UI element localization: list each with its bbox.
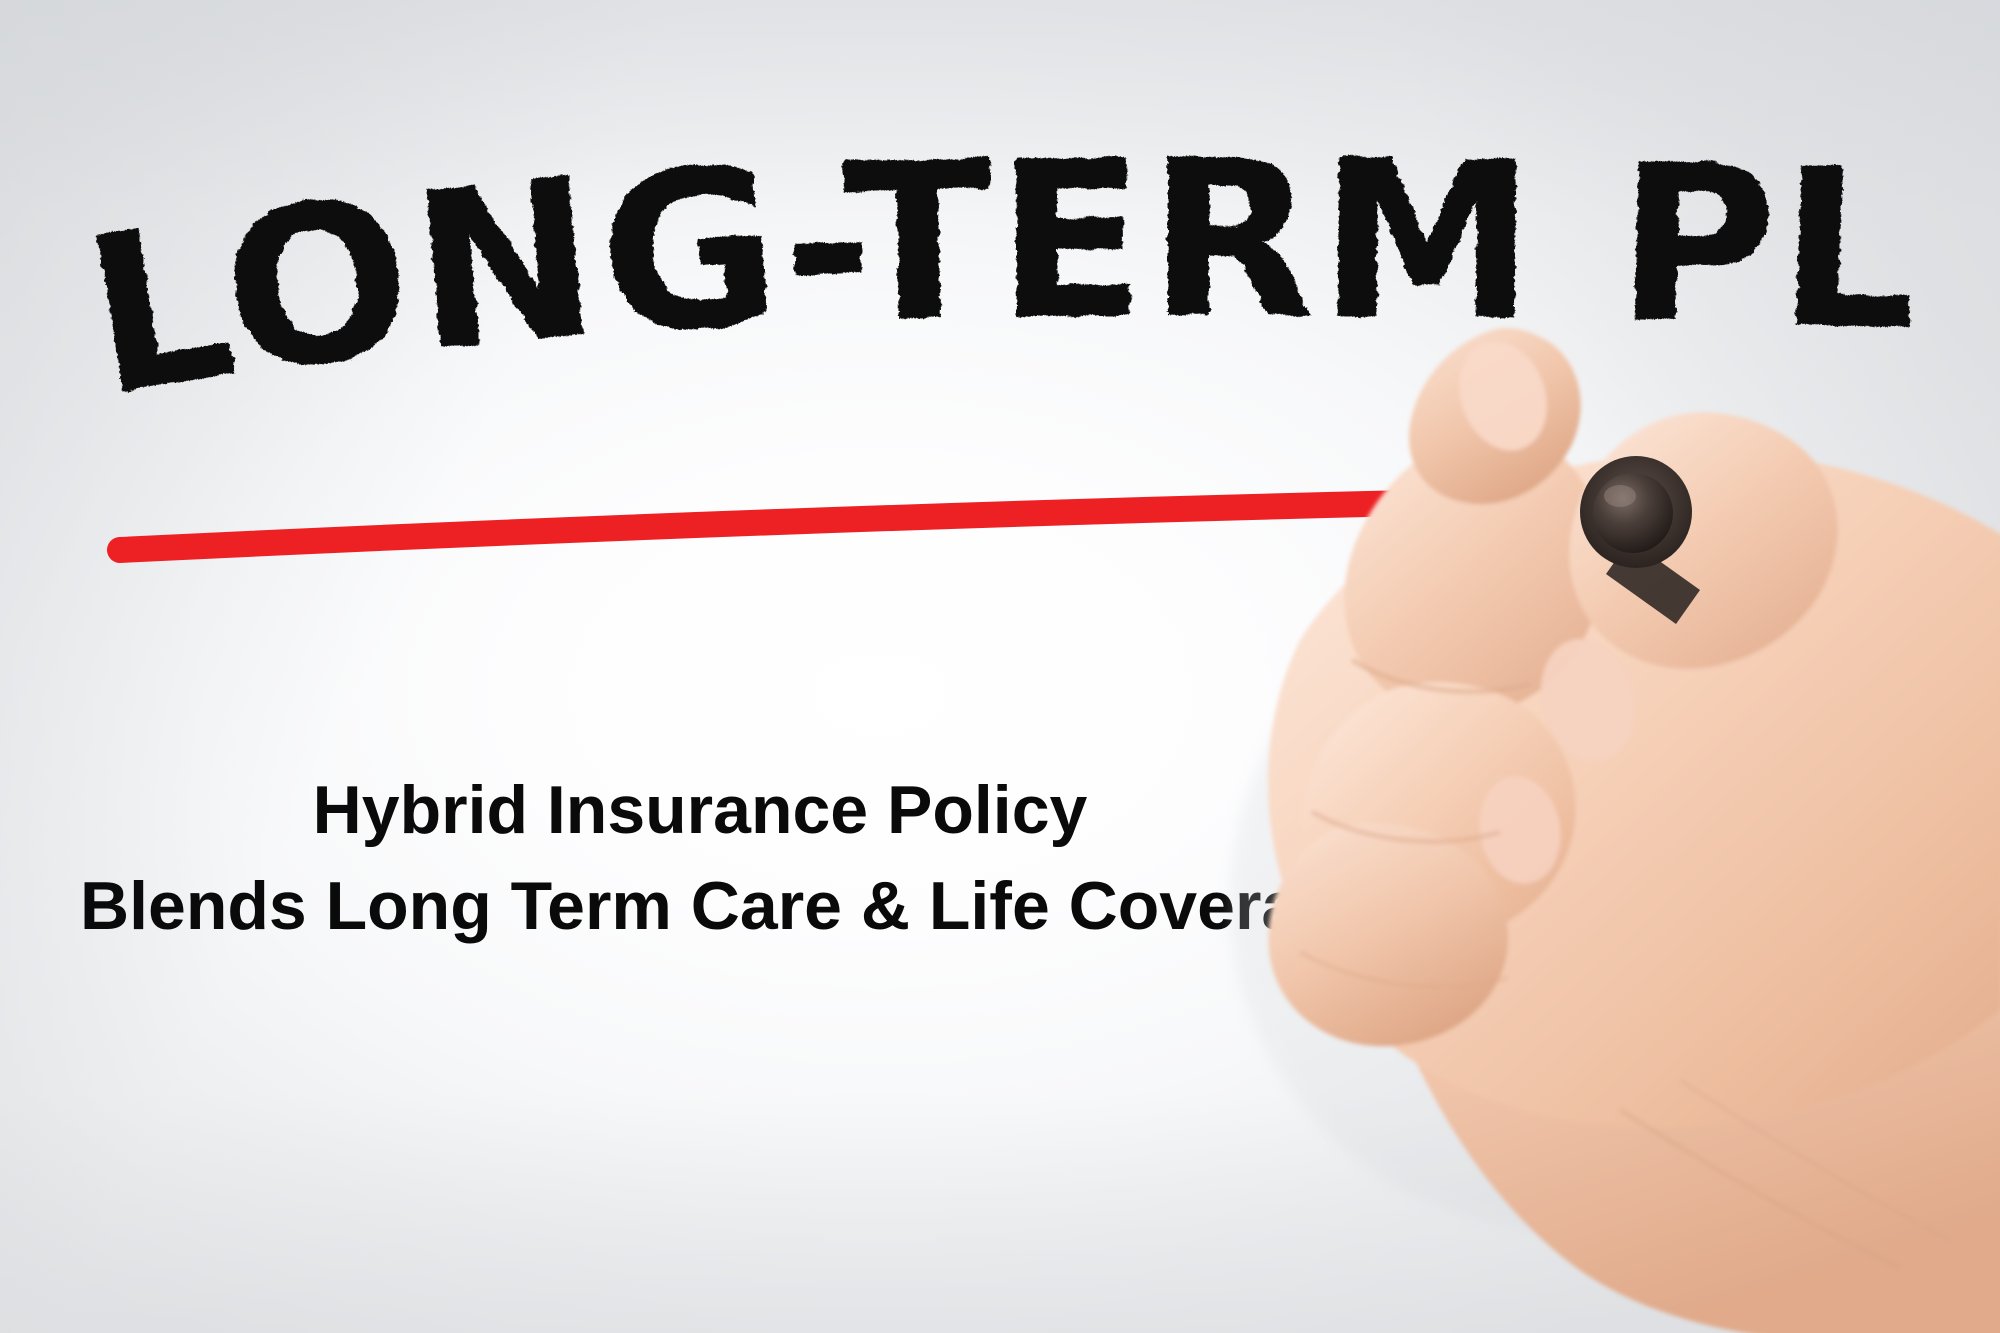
hand-illustration <box>0 0 2000 1333</box>
red-underline-svg <box>0 400 2000 620</box>
headline-container: LONG-TERM PLANNING <box>0 0 2000 470</box>
marker-nib-highlight <box>1604 485 1636 507</box>
marker-ferrule <box>1580 456 1692 568</box>
hand-group <box>0 0 2000 1333</box>
headline-textpath: LONG-TERM PLANNING <box>0 0 1924 446</box>
ring-nail <box>1471 770 1569 890</box>
forearm <box>1380 760 2000 1333</box>
subtitle-line-2: Blends Long Term Care & Life Coverage <box>80 866 1320 946</box>
subtitle-line-1: Hybrid Insurance Policy <box>80 770 1320 850</box>
middle-nail <box>1528 629 1647 772</box>
marker-barrel <box>1606 540 1700 624</box>
background-vignette <box>0 0 2000 1333</box>
index-fingertip <box>1409 328 1581 504</box>
crease-1 <box>1352 660 1530 692</box>
marker-nib <box>1593 473 1673 553</box>
marker-pen <box>1580 456 1700 624</box>
index-finger <box>1344 428 1604 716</box>
index-nail <box>1444 329 1561 463</box>
crease-3 <box>1300 952 1508 987</box>
wrist-line-1 <box>1620 1110 1900 1268</box>
hand-back <box>1268 451 2000 1128</box>
crease-2 <box>1312 812 1500 842</box>
concept-banner-image: LONG-TERM PLANNING Hybrid Insurance Poli… <box>0 0 2000 1333</box>
headline-text: LONG-TERM PLANNING <box>0 0 1924 446</box>
subtitle-block: Hybrid Insurance Policy Blends Long Term… <box>80 770 1320 946</box>
thumb <box>1569 412 1837 668</box>
headline-svg: LONG-TERM PLANNING <box>0 0 2000 470</box>
hand-layer <box>0 0 2000 1333</box>
red-marker-underline <box>120 498 1645 550</box>
wrist-line-2 <box>1680 1080 1950 1240</box>
